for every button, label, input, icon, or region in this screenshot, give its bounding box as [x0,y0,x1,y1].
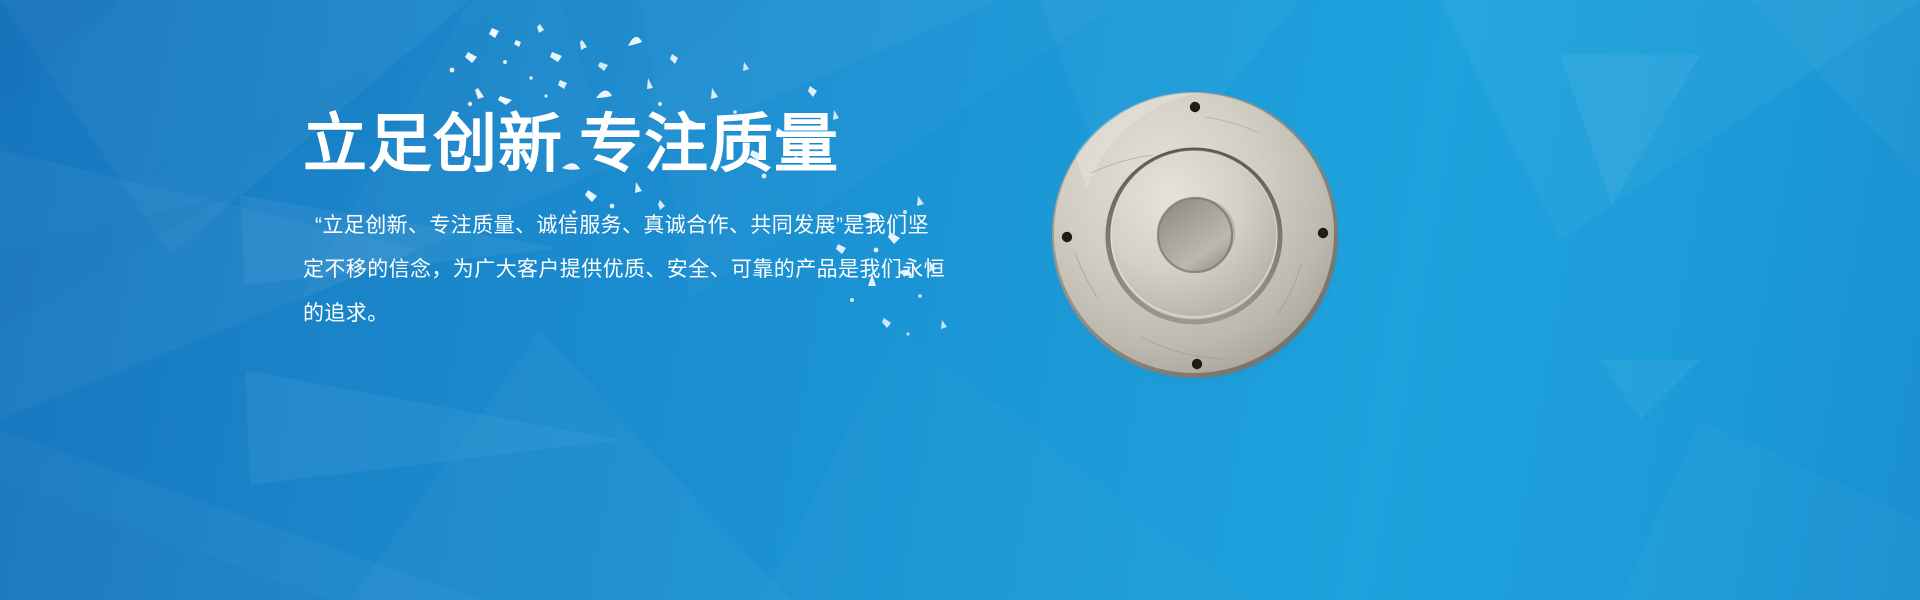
banner-text-block: 立足创新专注质量 “立足创新、专注质量、诚信服务、真诚合作、共同发展”是我们坚 … [303,108,963,336]
description-line-3: 的追求。 [303,292,943,336]
mounting-hole [1190,102,1200,112]
mounting-hole [1062,232,1072,242]
banner-headline: 立足创新专注质量 [303,108,963,180]
product-image-metal-flange-disc [1045,85,1345,385]
description-line-1: “立足创新、专注质量、诚信服务、真诚合作、共同发展”是我们坚 [303,204,943,248]
headline-part-2: 专注质量 [579,108,839,180]
mounting-hole [1192,359,1202,369]
headline-part-1: 立足创新 [303,108,563,180]
hero-banner: 立足创新专注质量 “立足创新、专注质量、诚信服务、真诚合作、共同发展”是我们坚 … [0,0,1920,600]
mounting-hole [1318,228,1328,238]
banner-description: “立足创新、专注质量、诚信服务、真诚合作、共同发展”是我们坚 定不移的信念，为广… [303,204,943,336]
description-line-2: 定不移的信念，为广大客户提供优质、安全、可靠的产品是我们永恒 [303,248,943,292]
